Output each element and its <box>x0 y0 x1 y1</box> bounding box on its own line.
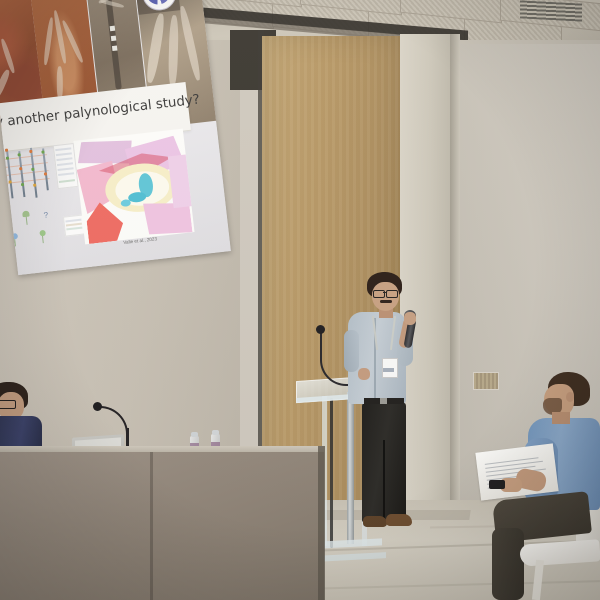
panel-desk-front <box>0 452 324 600</box>
speaker-left-arm <box>344 330 359 372</box>
lectern-cable <box>330 398 333 548</box>
mustache <box>380 300 392 303</box>
speaker-left-hand <box>358 368 370 380</box>
partition-edge <box>450 34 460 539</box>
gooseneck-microphone-icon <box>316 325 325 334</box>
presentation-slide: Bioturbation hy another palynological st… <box>0 0 231 275</box>
desk-right-edge <box>318 446 325 600</box>
lectern-metal-stem <box>347 392 354 544</box>
attendee-ear <box>566 392 574 402</box>
glasses-icon <box>386 290 398 298</box>
desk-panel-seam <box>150 452 153 600</box>
plant-icon <box>37 229 48 244</box>
geological-map <box>73 129 194 245</box>
speaker-right-hand <box>404 312 416 325</box>
conference-room-photo: Bioturbation hy another palynological st… <box>0 0 600 600</box>
air-vent-icon <box>520 0 582 21</box>
belt-buckle <box>380 398 387 404</box>
plant-icon <box>21 210 32 225</box>
speaker-shoe <box>386 514 412 526</box>
gooseneck-microphone-icon <box>93 402 102 411</box>
speaker-shoe <box>363 516 387 527</box>
projection-screen: Bioturbation hy another palynological st… <box>0 0 231 280</box>
phone-device <box>489 480 505 489</box>
question-mark-icon: ? <box>43 210 48 219</box>
attendee-shin <box>492 528 524 600</box>
attendee-neck <box>552 412 570 424</box>
badge-text-block <box>383 368 394 372</box>
glasses-icon <box>0 400 16 409</box>
speaker-leg-gap <box>383 440 385 524</box>
bottle-cap <box>212 430 219 435</box>
bottle-cap <box>191 432 198 437</box>
wall-plaque <box>473 372 499 390</box>
glasses-bridge <box>383 292 387 293</box>
